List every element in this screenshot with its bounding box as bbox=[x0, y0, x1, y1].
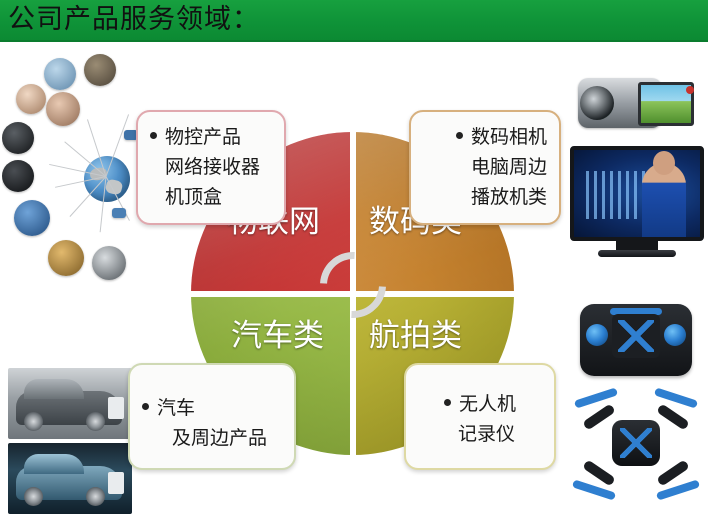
callout-line: 电脑周边 bbox=[423, 152, 547, 182]
car-photo-silver bbox=[8, 368, 132, 439]
bullet-icon bbox=[456, 132, 463, 139]
iot-node-camera bbox=[2, 160, 34, 192]
car-grille bbox=[108, 397, 124, 419]
callout-line: 物控产品 bbox=[150, 122, 272, 152]
callout-line: 汽车 bbox=[142, 393, 282, 423]
car-wheel bbox=[24, 412, 43, 431]
tv-equalizer-graphic bbox=[586, 171, 648, 219]
camcorder-lens bbox=[580, 86, 614, 120]
page-title: 公司产品服务领域： bbox=[8, 3, 260, 37]
drone-arm bbox=[656, 403, 690, 430]
controller-joystick-left bbox=[586, 324, 608, 346]
car-cabin bbox=[24, 454, 84, 474]
callout-line: 播放机类 bbox=[423, 182, 547, 212]
callout-line: 数码相机 bbox=[423, 122, 547, 152]
bullet-icon bbox=[444, 399, 451, 406]
iot-node-gateway bbox=[112, 208, 126, 218]
tv-stand-base bbox=[598, 250, 676, 257]
iot-node-city bbox=[48, 240, 84, 276]
car-cabin bbox=[24, 379, 84, 399]
television-photo bbox=[570, 146, 704, 262]
iot-node-mobile bbox=[16, 84, 46, 114]
callout-text: 数码相机 bbox=[471, 126, 547, 148]
camcorder-photo bbox=[578, 66, 696, 138]
pie-label-auto: 汽车类 bbox=[231, 319, 324, 353]
controller-joystick-right bbox=[664, 324, 686, 346]
bullet-icon bbox=[150, 132, 157, 139]
tv-model-figure bbox=[642, 163, 686, 237]
camcorder-and-tv-photo bbox=[566, 62, 706, 267]
car-photo-blue bbox=[8, 443, 132, 514]
tv-screen bbox=[570, 146, 704, 241]
luxury-cars-photo bbox=[4, 366, 136, 516]
callout-line: 无人机 bbox=[418, 389, 542, 419]
callout-text: 及周边产品 bbox=[172, 427, 267, 449]
bullet-icon bbox=[142, 403, 149, 410]
drone-controller bbox=[580, 304, 692, 376]
iot-node-watch bbox=[2, 122, 34, 154]
callout-line: 机顶盒 bbox=[150, 182, 272, 212]
pie-label-aerial: 航拍类 bbox=[369, 319, 462, 353]
car-grille bbox=[108, 472, 124, 494]
callout-text: 电脑周边 bbox=[471, 156, 547, 178]
callout-text: 记录仪 bbox=[458, 423, 515, 445]
callout-text: 无人机 bbox=[459, 393, 516, 415]
callout-box-auto[interactable]: 汽车 及周边产品 bbox=[128, 363, 296, 470]
iot-node-computer bbox=[44, 58, 76, 90]
iot-node-appliance bbox=[84, 54, 116, 86]
car-wheel bbox=[86, 412, 105, 431]
drone-arm bbox=[582, 403, 616, 430]
quadcopter-drone bbox=[576, 386, 696, 500]
callout-line: 及周边产品 bbox=[142, 423, 282, 453]
callout-line: 记录仪 bbox=[418, 419, 542, 449]
iot-node-logistics bbox=[92, 246, 126, 280]
controller-center-pad bbox=[612, 314, 660, 358]
iot-node-industry bbox=[14, 200, 50, 236]
center-broken-ring-icon bbox=[320, 252, 386, 318]
callout-box-iot[interactable]: 物控产品 网络接收器 机顶盒 bbox=[136, 110, 286, 225]
car-wheel bbox=[86, 487, 105, 506]
drone-body bbox=[612, 420, 660, 466]
car-wheel bbox=[24, 487, 43, 506]
callout-text: 网络接收器 bbox=[165, 156, 260, 178]
callout-box-digital[interactable]: 数码相机 电脑周边 播放机类 bbox=[409, 110, 561, 225]
callout-text: 播放机类 bbox=[471, 186, 547, 208]
drone-and-controller-photo bbox=[566, 300, 706, 510]
callout-line: 网络接收器 bbox=[150, 152, 272, 182]
iot-network-diagram bbox=[2, 48, 152, 300]
callout-box-aerial[interactable]: 无人机 记录仪 bbox=[404, 363, 556, 470]
slide-canvas: 公司产品服务领域： bbox=[0, 0, 708, 519]
record-button-icon bbox=[686, 86, 694, 94]
drone-arm bbox=[582, 459, 616, 486]
tv-stand-neck bbox=[616, 241, 658, 250]
iot-node-phone bbox=[46, 92, 80, 126]
callout-text: 机顶盒 bbox=[165, 186, 222, 208]
callout-text: 汽车 bbox=[157, 397, 195, 419]
callout-text: 物控产品 bbox=[165, 126, 241, 148]
